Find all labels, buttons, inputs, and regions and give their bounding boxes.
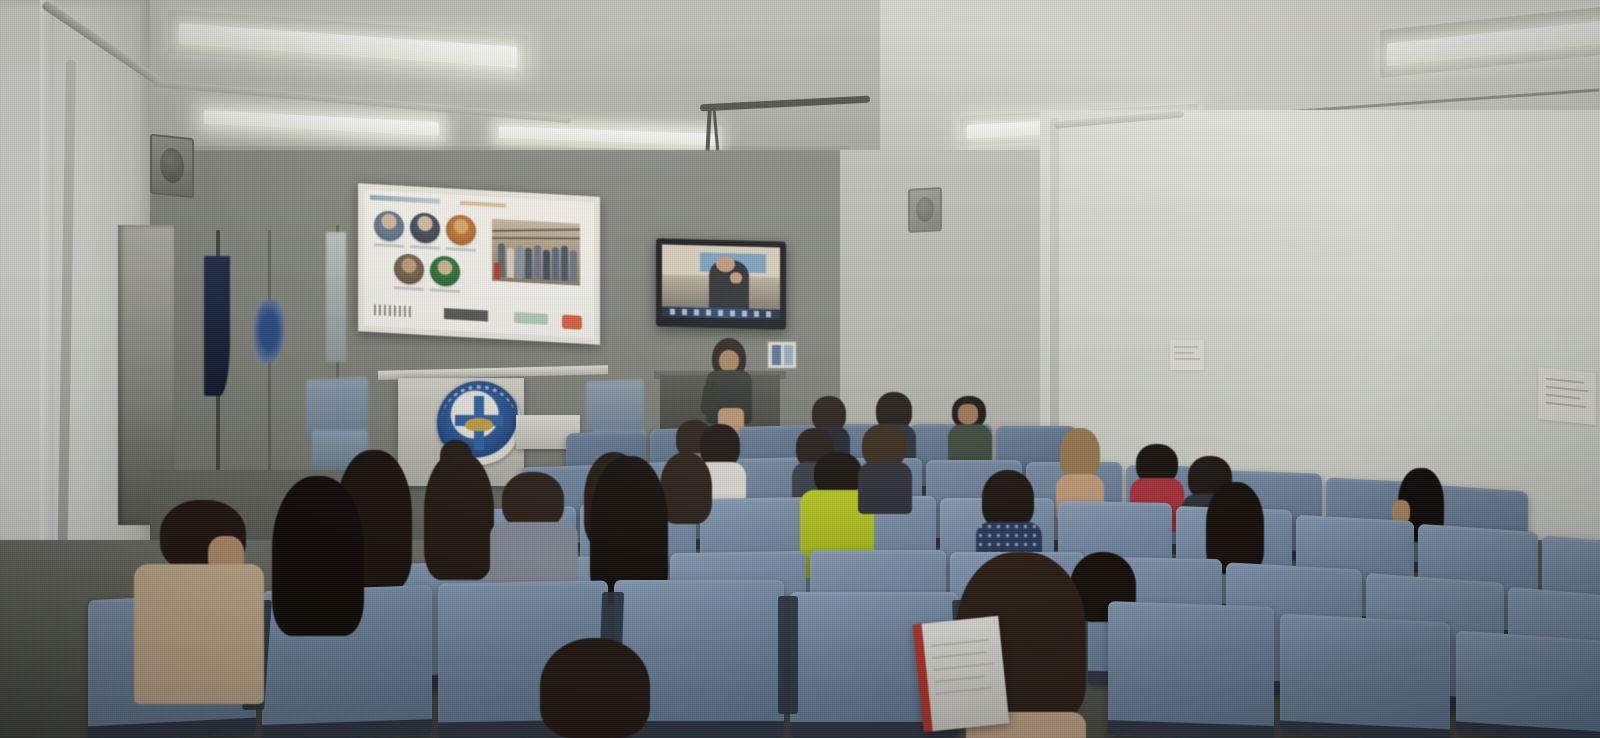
slide-logo-row <box>372 304 584 332</box>
wall-picture-frame <box>766 340 798 370</box>
chair <box>1280 614 1450 738</box>
auditorium-photo: Photograph of a lecture hall / auditoriu… <box>0 0 1600 738</box>
slide-subtitle-bar <box>460 201 506 208</box>
chair-armrest <box>778 596 798 714</box>
sponsor-logo-2 <box>444 308 488 321</box>
ceiling-seam-back <box>150 146 850 149</box>
slide-portrait-1 <box>374 210 404 242</box>
slide-group-photo <box>492 219 580 286</box>
slide-portrait-3 <box>446 214 476 246</box>
flag-white-blue <box>254 300 284 362</box>
conduit-vertical-right <box>1050 118 1059 448</box>
wall-mounted-tv <box>656 238 786 329</box>
sponsor-logo-1 <box>374 304 412 317</box>
slide-portrait-2 <box>410 212 440 244</box>
speaker-icon-right <box>908 187 942 233</box>
presenter <box>700 338 758 434</box>
speaker-icon <box>150 134 194 199</box>
wall-notice-center-right <box>1170 340 1204 370</box>
flag-light <box>326 232 346 362</box>
video-call-control-bar <box>662 306 780 319</box>
chair <box>1108 601 1274 738</box>
slide-portrait-4 <box>394 253 424 285</box>
wall-notice-far-right <box>1538 367 1596 425</box>
flag-dark-blue <box>204 256 230 396</box>
projection-screen <box>358 183 600 345</box>
chair <box>1456 630 1600 738</box>
tv-screen-content <box>662 244 780 319</box>
slide-title-bar <box>370 195 440 204</box>
sponsor-logo-4 <box>562 315 582 330</box>
presentation-slide <box>364 190 594 339</box>
sponsor-logo-3 <box>514 312 548 325</box>
slide-portrait-5 <box>430 255 460 287</box>
notebook <box>913 616 1010 732</box>
